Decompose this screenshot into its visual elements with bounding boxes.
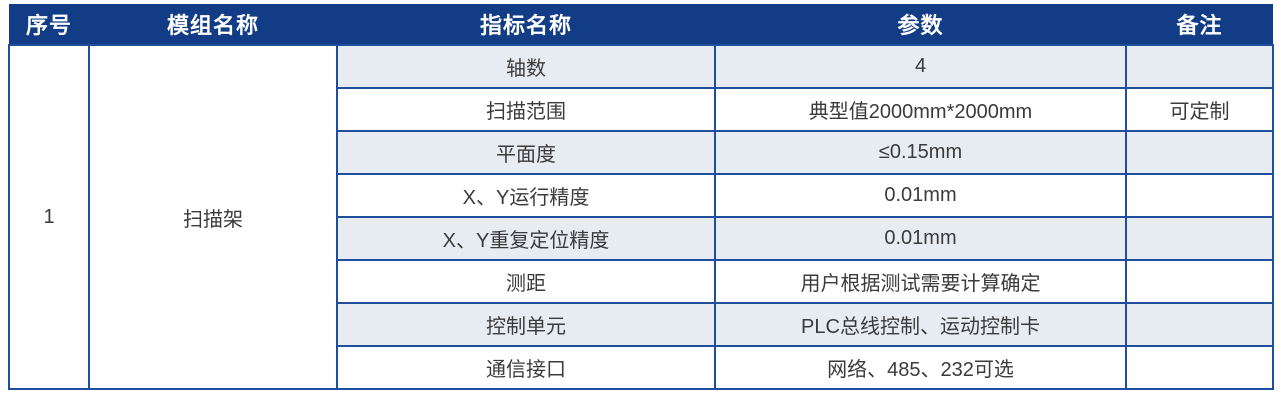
column-header-index: 序号 bbox=[9, 4, 89, 45]
cell-parameter: 0.01mm bbox=[715, 217, 1126, 260]
column-header-remark: 备注 bbox=[1126, 4, 1273, 45]
table-header: 序号 模组名称 指标名称 参数 备注 bbox=[9, 4, 1273, 45]
cell-indicator: 通信接口 bbox=[337, 346, 715, 389]
cell-indicator: 平面度 bbox=[337, 131, 715, 174]
cell-indicator: 控制单元 bbox=[337, 303, 715, 346]
cell-indicator: X、Y运行精度 bbox=[337, 174, 715, 217]
cell-remark bbox=[1126, 346, 1273, 389]
cell-parameter: PLC总线控制、运动控制卡 bbox=[715, 303, 1126, 346]
cell-parameter: ≤0.15mm bbox=[715, 131, 1126, 174]
specification-table: 序号 模组名称 指标名称 参数 备注 1 扫描架 轴数 4 扫描范围 典型值20… bbox=[8, 4, 1274, 390]
cell-parameter: 0.01mm bbox=[715, 174, 1126, 217]
cell-remark bbox=[1126, 260, 1273, 303]
table-header-row: 序号 模组名称 指标名称 参数 备注 bbox=[9, 4, 1273, 45]
cell-group-module: 扫描架 bbox=[89, 45, 337, 389]
cell-group-index: 1 bbox=[9, 45, 89, 389]
column-header-indicator: 指标名称 bbox=[337, 4, 715, 45]
cell-remark: 可定制 bbox=[1126, 88, 1273, 131]
cell-remark bbox=[1126, 131, 1273, 174]
column-header-module: 模组名称 bbox=[89, 4, 337, 45]
cell-indicator: X、Y重复定位精度 bbox=[337, 217, 715, 260]
table-body: 1 扫描架 轴数 4 扫描范围 典型值2000mm*2000mm 可定制 平面度… bbox=[9, 45, 1273, 389]
cell-indicator: 测距 bbox=[337, 260, 715, 303]
cell-parameter: 网络、485、232可选 bbox=[715, 346, 1126, 389]
cell-indicator: 轴数 bbox=[337, 45, 715, 88]
table-row: 1 扫描架 轴数 4 bbox=[9, 45, 1273, 88]
spec-table-page: 序号 模组名称 指标名称 参数 备注 1 扫描架 轴数 4 扫描范围 典型值20… bbox=[0, 0, 1281, 413]
cell-remark bbox=[1126, 217, 1273, 260]
cell-remark bbox=[1126, 45, 1273, 88]
cell-parameter: 典型值2000mm*2000mm bbox=[715, 88, 1126, 131]
cell-remark bbox=[1126, 303, 1273, 346]
cell-indicator: 扫描范围 bbox=[337, 88, 715, 131]
column-header-parameter: 参数 bbox=[715, 4, 1126, 45]
cell-parameter: 4 bbox=[715, 45, 1126, 88]
cell-remark bbox=[1126, 174, 1273, 217]
cell-parameter: 用户根据测试需要计算确定 bbox=[715, 260, 1126, 303]
